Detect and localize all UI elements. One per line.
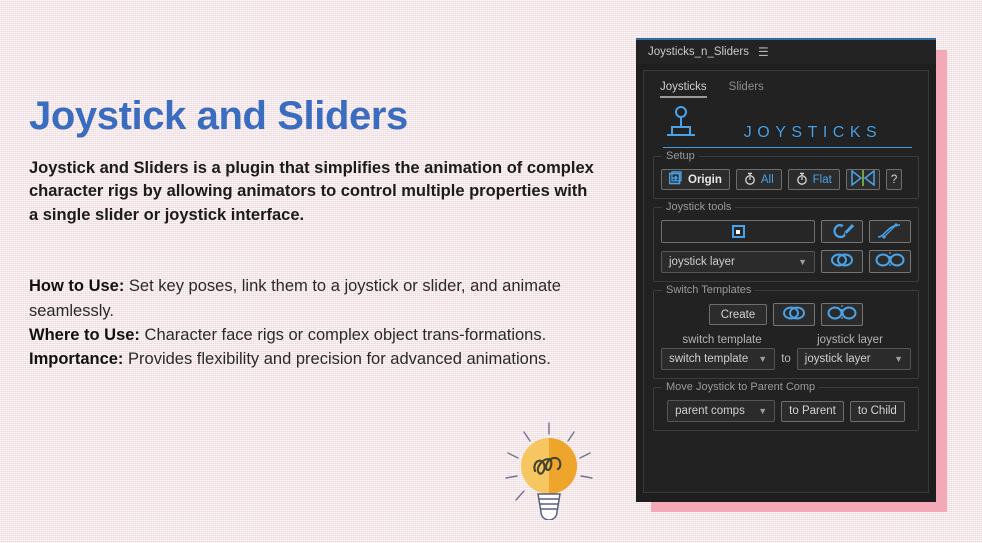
origin-button[interactable]: Origin (661, 169, 730, 190)
mirror-icon (851, 170, 875, 189)
joystick-tools-row-2: joystick layer ▼ (661, 250, 911, 273)
detail-item-where-to-use: Where to Use: Character face rigs or com… (29, 323, 589, 347)
panel-window-title: Joysticks_n_Sliders (648, 46, 749, 58)
lightbulb-icon (494, 420, 604, 520)
split-link-icon (826, 305, 858, 324)
parent-comps-select[interactable]: parent comps ▼ (667, 400, 775, 422)
brand-wordmark: JOYSTICKS (712, 124, 914, 144)
detail-label: Importance: (29, 350, 123, 368)
target-joystick-layer-select[interactable]: joystick layer ▼ (797, 348, 911, 370)
ease-curve-icon (876, 222, 904, 242)
flat-button-label: Flat (813, 174, 832, 186)
joysticks-n-sliders-panel: Joysticks_n_Sliders ☰ Joysticks Sliders … (636, 38, 936, 502)
joystick-layer-select-value: joystick layer (669, 256, 735, 268)
all-button-label: All (761, 174, 774, 186)
template-link-button[interactable] (773, 303, 815, 326)
switch-templates-captions: switch template joystick layer (661, 334, 911, 346)
detail-text: Provides flexibility and precision for a… (123, 350, 550, 368)
chevron-down-icon: ▼ (758, 406, 767, 416)
tab-sliders[interactable]: Sliders (729, 81, 764, 98)
to-parent-button[interactable]: to Parent (781, 401, 844, 422)
switch-templates-row-1: Create (661, 303, 911, 326)
panel-tabs: Joysticks Sliders (652, 78, 920, 98)
tab-joysticks[interactable]: Joysticks (660, 81, 707, 98)
chevron-down-icon: ▼ (894, 354, 903, 364)
move-joystick-row: parent comps ▼ to Parent to Child (661, 400, 911, 422)
parent-comps-select-value: parent comps (675, 405, 745, 417)
switch-templates-legend: Switch Templates (662, 284, 755, 296)
brand-underline (663, 147, 912, 148)
center-marker-button[interactable] (661, 220, 815, 243)
intro-paragraph: Joystick and Sliders is a plugin that si… (29, 157, 599, 227)
all-button[interactable]: All (736, 169, 782, 190)
mirror-button[interactable] (846, 169, 880, 190)
joystick-layer-select[interactable]: joystick layer ▼ (661, 251, 815, 273)
circle-pen-icon (829, 222, 855, 242)
switch-templates-row-2: switch template ▼ to joystick layer ▼ (661, 348, 911, 370)
joystick-layer-caption: joystick layer (789, 334, 911, 346)
question-mark-icon: ? (891, 174, 897, 186)
joystick-icon (664, 105, 698, 144)
target-joystick-layer-value: joystick layer (805, 353, 871, 365)
page-title: Joystick and Sliders (29, 94, 609, 138)
chevron-down-icon: ▼ (758, 354, 767, 364)
move-joystick-group: Move Joystick to Parent Comp parent comp… (653, 387, 919, 431)
to-label: to (781, 353, 791, 365)
chain-link-icon (828, 252, 856, 271)
switch-template-select-value: switch template (669, 353, 748, 365)
setup-legend: Setup (662, 150, 699, 162)
move-joystick-legend: Move Joystick to Parent Comp (662, 381, 819, 393)
switch-template-select[interactable]: switch template ▼ (661, 348, 775, 370)
detail-item-importance: Importance: Provides flexibility and pre… (29, 347, 589, 371)
link-button[interactable] (821, 250, 863, 273)
export-origin-icon (669, 171, 683, 188)
create-button-label: Create (721, 309, 756, 321)
panel-body: Joysticks Sliders JOYSTICKS Setup (643, 70, 929, 493)
origin-button-label: Origin (688, 174, 722, 186)
brand-row: JOYSTICKS (652, 105, 920, 144)
chain-link-icon (780, 305, 808, 324)
detail-item-how-to-use: How to Use: Set key poses, link them to … (29, 274, 589, 323)
ease-curve-button[interactable] (869, 220, 911, 243)
template-unlink-button[interactable] (821, 303, 863, 326)
stopwatch-icon (796, 172, 808, 188)
switch-templates-group: Switch Templates Create (653, 290, 919, 379)
circle-pen-button[interactable] (821, 220, 863, 243)
panel-title-bar: Joysticks_n_Sliders ☰ (636, 40, 936, 64)
detail-text: Character face rigs or complex object tr… (140, 326, 546, 344)
hamburger-menu-icon[interactable]: ☰ (758, 46, 769, 58)
center-marker-icon (732, 225, 745, 238)
joystick-tools-row-1 (661, 220, 911, 243)
flat-button[interactable]: Flat (788, 169, 840, 190)
switch-template-caption: switch template (661, 334, 783, 346)
joystick-tools-legend: Joystick tools (662, 201, 735, 213)
setup-group: Setup Origin (653, 156, 919, 199)
joystick-tools-group: Joystick tools (653, 207, 919, 282)
unlink-button[interactable] (869, 250, 911, 273)
detail-label: How to Use: (29, 277, 124, 295)
detail-label: Where to Use: (29, 326, 140, 344)
to-child-button-label: to Child (858, 405, 897, 417)
setup-row: Origin All (661, 169, 911, 190)
to-child-button[interactable]: to Child (850, 401, 905, 422)
details-list: How to Use: Set key poses, link them to … (29, 274, 589, 371)
to-parent-button-label: to Parent (789, 405, 836, 417)
stopwatch-icon (744, 172, 756, 188)
split-link-icon (874, 252, 906, 271)
create-button[interactable]: Create (709, 304, 767, 325)
slide-text-column: Joystick and Sliders Joystick and Slider… (29, 94, 609, 371)
chevron-down-icon: ▼ (798, 257, 807, 267)
help-button[interactable]: ? (886, 169, 902, 190)
